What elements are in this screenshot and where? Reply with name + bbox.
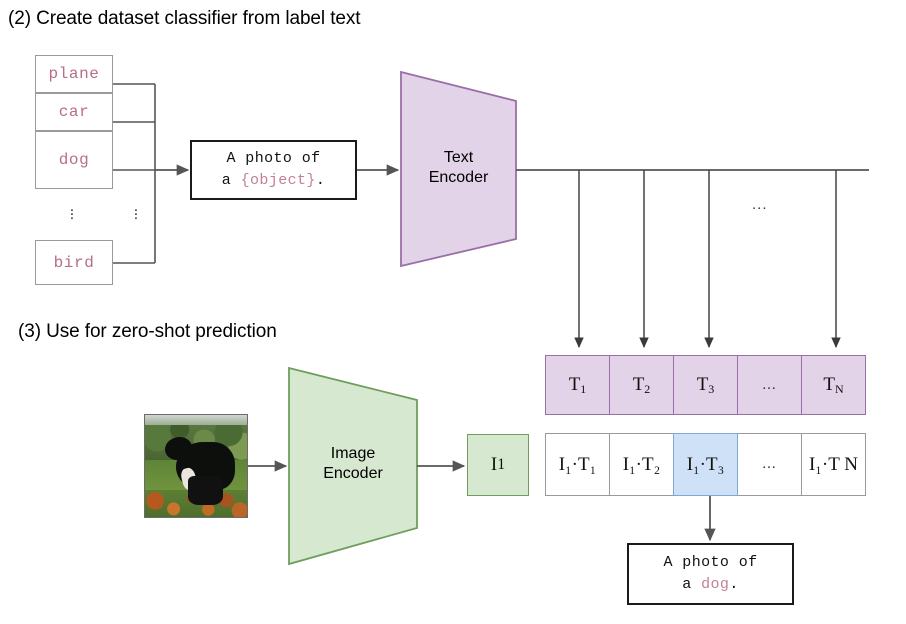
label-text-car: car	[59, 103, 90, 121]
similarity-cell-ellipsis: ...	[737, 433, 802, 496]
similarity-cell-2-label: I₁·T₂	[623, 454, 661, 476]
section-title-step-3: (3) Use for zero-shot prediction	[18, 321, 277, 343]
image-encoder-shape	[289, 368, 417, 564]
prompt-object-slot: {object}	[241, 172, 316, 189]
prompt-line-1: A photo of	[226, 148, 320, 170]
text-bus-ellipsis: ...	[752, 196, 768, 213]
image-embedding-sub: 1	[497, 456, 505, 474]
labels-vertical-ellipsis-right: ...	[124, 205, 148, 217]
text-encoder-shape	[401, 72, 516, 266]
text-embedding-cell-ellipsis: ...	[737, 355, 802, 415]
similarity-cell-3-selected[interactable]: I₁·T₃	[673, 433, 738, 496]
text-embedding-base-1: T	[569, 374, 581, 396]
text-embedding-sub-3: 3	[708, 382, 714, 397]
text-embedding-ellipsis: ...	[762, 377, 776, 394]
input-photo-thumbnail[interactable]	[144, 414, 248, 518]
clip-zero-shot-figure: (2) Create dataset classifier from label…	[0, 0, 906, 624]
text-embedding-sub-n: N	[835, 382, 844, 397]
similarity-ellipsis: ...	[762, 456, 776, 473]
text-embedding-cell-1[interactable]: T1	[545, 355, 610, 415]
text-embeddings-row: T1 T2 T3 ... TN	[545, 355, 866, 415]
similarity-cell-1[interactable]: I₁·T₁	[545, 433, 610, 496]
similarity-cell-1-label: I₁·T₁	[559, 454, 597, 476]
photo-dog-head	[165, 437, 192, 459]
labels-vertical-ellipsis-left: ...	[60, 205, 84, 217]
prediction-class-label: dog	[701, 576, 729, 593]
similarity-cell-n-label: I₁·T N	[809, 454, 858, 476]
label-box-car[interactable]: car	[35, 93, 113, 131]
prediction-line2-prefix: a	[682, 576, 701, 593]
text-embedding-cell-n[interactable]: TN	[801, 355, 866, 415]
label-bus-wires	[113, 84, 155, 263]
prediction-output-box[interactable]: A photo of a dog.	[627, 543, 794, 605]
prompt-template-box[interactable]: A photo of a {object}.	[190, 140, 357, 200]
prompt-line-2: a {object}.	[222, 170, 325, 192]
similarity-cell-2[interactable]: I₁·T₂	[609, 433, 674, 496]
text-embedding-cell-3[interactable]: T3	[673, 355, 738, 415]
similarity-scores-row: I₁·T₁ I₁·T₂ I₁·T₃ ... I₁·T N	[545, 433, 866, 496]
prompt-line2-suffix: .	[316, 172, 325, 189]
prompt-line2-prefix: a	[222, 172, 241, 189]
label-text-dog: dog	[59, 151, 90, 169]
text-embedding-base-2: T	[633, 374, 645, 396]
connector-overlay	[0, 0, 906, 624]
image-embedding-box[interactable]: I1	[467, 434, 529, 496]
label-box-plane[interactable]: plane	[35, 55, 113, 93]
section-title-step-2: (2) Create dataset classifier from label…	[8, 8, 360, 30]
label-box-bird[interactable]: bird	[35, 240, 113, 285]
text-embedding-sub-1: 1	[580, 382, 586, 397]
text-embedding-base-3: T	[697, 374, 709, 396]
text-embedding-cell-2[interactable]: T2	[609, 355, 674, 415]
prediction-line2-suffix: .	[729, 576, 738, 593]
similarity-cell-3-label: I₁·T₃	[687, 454, 725, 476]
prediction-line-1: A photo of	[663, 552, 757, 574]
similarity-cell-n[interactable]: I₁·T N	[801, 433, 866, 496]
label-box-dog[interactable]: dog	[35, 131, 113, 189]
text-embedding-droplines	[579, 170, 836, 347]
photo-dog-legs	[188, 476, 223, 505]
text-embedding-sub-2: 2	[644, 382, 650, 397]
text-embedding-base-n: T	[823, 374, 835, 396]
prediction-line-2: a dog.	[682, 574, 738, 596]
label-text-plane: plane	[48, 65, 99, 83]
photo-sky	[145, 415, 247, 425]
label-text-bird: bird	[54, 254, 95, 272]
